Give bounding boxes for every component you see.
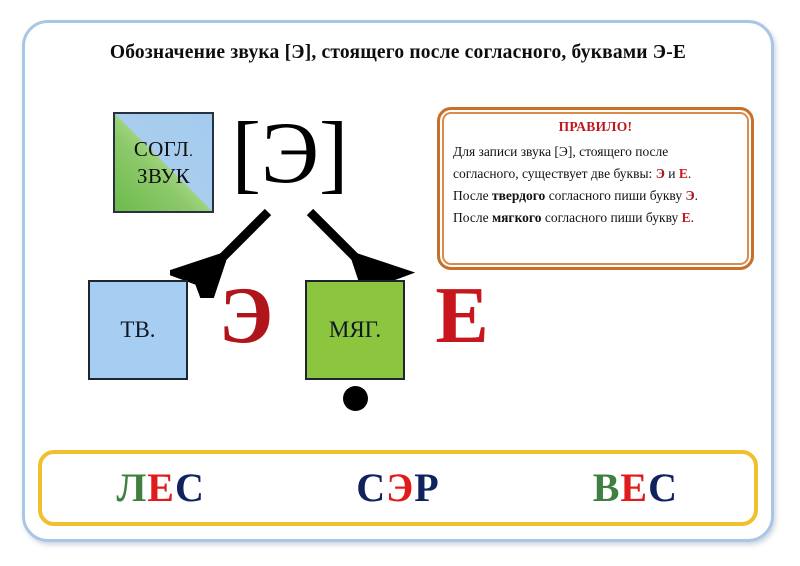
hard-letter: Э [196,276,296,356]
example-word-2-letter-1: С [356,465,386,510]
consonant-box-line1-text: СОГЛ [134,137,189,161]
rule-line-4-pre: После [453,210,492,225]
hard-consonant-box: ТВ. [88,280,188,380]
rule-line-3-post: согласного пиши букву [545,188,685,203]
rule-line-2: согласного, существует две буквы: Э и Е. [453,163,738,185]
rule-line-1: Для записи звука [Э], стоящего после [453,141,738,163]
example-word-2: СЭР [279,468,516,508]
rule-line-4-end: . [691,210,694,225]
example-word-3: ВЕС [517,468,754,508]
example-word-1-letter-3: С [175,465,205,510]
consonant-sound-box: СОГЛ. ЗВУК [113,112,214,213]
rule-line-2-letter-soft: Е [679,166,688,181]
softness-dot-icon [343,386,368,411]
example-words-panel: ЛЕС СЭР ВЕС [38,450,758,526]
slide-canvas: Обозначение звука [Э], стоящего после со… [0,0,800,566]
arrow-to-soft [310,212,368,270]
rule-panel: ПРАВИЛО! Для записи звука [Э], стоящего … [437,107,754,270]
soft-letter: Е [412,276,512,356]
example-word-1-letter-2: Е [147,465,175,510]
rule-line-3-end: . [695,188,698,203]
rule-line-4: После мягкого согласного пиши букву Е. [453,207,738,229]
rule-line-2-letter-hard: Э [656,166,665,181]
rule-line-3: После твердого согласного пиши букву Э. [453,185,738,207]
rule-line-2-conj: и [665,166,679,181]
rule-line-3-pre: После [453,188,492,203]
consonant-box-line1-dot: . [189,144,193,160]
phoneme-label: [Э] [230,110,350,198]
example-word-1-letter-1: Л [116,465,147,510]
rule-line-4-post: согласного пиши букву [541,210,681,225]
example-word-3-letter-2: Е [620,465,648,510]
rule-heading: ПРАВИЛО! [453,119,738,135]
rule-line-4-emphasis: мягкого [492,210,542,225]
example-word-2-letter-3: Р [414,465,439,510]
example-word-3-letter-3: С [648,465,678,510]
rule-line-3-letter: Э [685,188,694,203]
rule-line-2-end: . [688,166,691,181]
soft-consonant-box: МЯГ. [305,280,405,380]
rule-line-2-text: согласного, существует две буквы: [453,166,656,181]
rule-line-3-emphasis: твердого [492,188,545,203]
rule-panel-inner: ПРАВИЛО! Для записи звука [Э], стоящего … [440,110,751,267]
example-word-1: ЛЕС [42,468,279,508]
consonant-box-line1: СОГЛ. [134,139,193,160]
consonant-box-line2: ЗВУК [137,166,190,187]
arrow-to-hard [210,212,268,270]
example-word-3-letter-1: В [593,465,621,510]
example-word-2-letter-2: Э [386,465,414,510]
page-title: Обозначение звука [Э], стоящего после со… [22,42,774,64]
rule-line-4-letter: Е [682,210,691,225]
